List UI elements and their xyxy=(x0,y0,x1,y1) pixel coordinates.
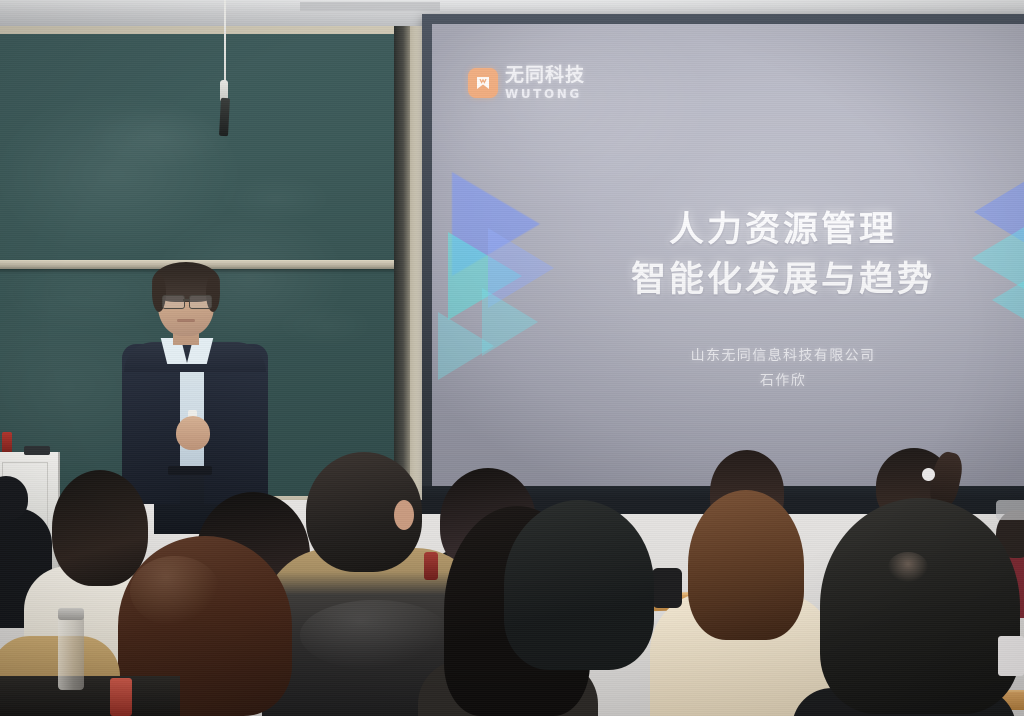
eyeglasses-icon xyxy=(996,500,1024,520)
presenter-hands xyxy=(176,416,210,450)
bag-strap xyxy=(652,568,682,608)
can-body xyxy=(110,678,132,716)
smartphone xyxy=(998,636,1024,676)
presenter-mouth xyxy=(177,319,195,322)
classroom-scene: 无同科技 WUTONG 人力资源管理 智能化发展与趋势 山东无同信息科技有限公司… xyxy=(0,0,1024,716)
student-head xyxy=(52,470,148,586)
pull-cord[interactable] xyxy=(224,0,226,86)
leather-sheen xyxy=(300,600,450,670)
hair-highlight xyxy=(130,556,220,626)
screen-vignette xyxy=(432,24,1024,498)
scalp-highlight xyxy=(888,552,928,582)
student-head xyxy=(820,498,1020,714)
presenter-belt xyxy=(168,466,212,475)
bottle-body xyxy=(424,552,438,580)
student-body xyxy=(0,676,180,716)
eyeglasses-bridge xyxy=(183,299,189,301)
bottle-cap xyxy=(58,608,84,620)
projection-screen: 无同科技 WUTONG 人力资源管理 智能化发展与趋势 山东无同信息科技有限公司… xyxy=(432,24,1024,498)
eyeglasses-icon xyxy=(162,295,185,309)
hair-tie xyxy=(922,468,935,481)
eyeglasses-lens-right xyxy=(189,295,212,309)
ceiling-strip xyxy=(0,0,1024,12)
bottle-body xyxy=(58,614,84,690)
student-head xyxy=(688,490,804,640)
podium-object xyxy=(24,446,50,455)
ceiling-fixture xyxy=(300,2,440,11)
student-ear xyxy=(394,500,414,530)
speaker-standing xyxy=(118,268,274,530)
chalkboard-right-trim xyxy=(410,26,422,511)
student-head xyxy=(504,500,654,670)
red-bottle xyxy=(2,432,12,454)
